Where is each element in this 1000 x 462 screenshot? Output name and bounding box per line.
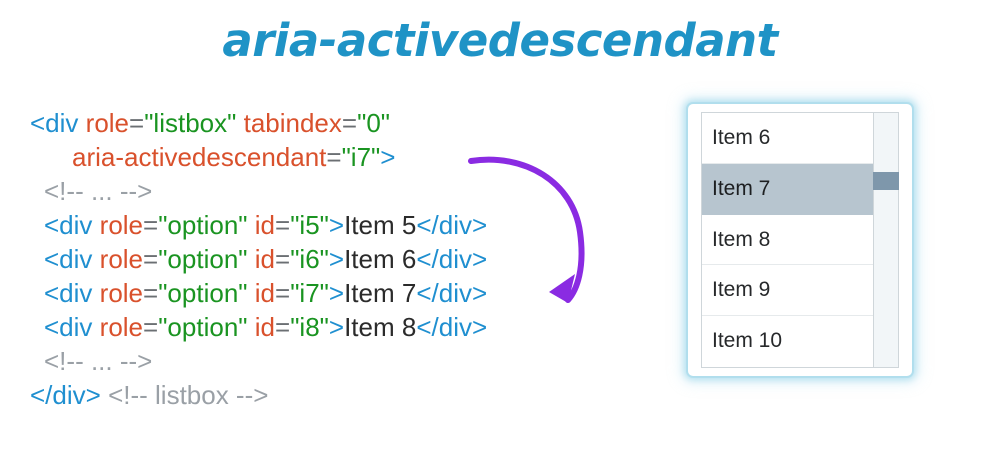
code-token-txt xyxy=(248,312,255,342)
code-token-attr: aria-activedescendant xyxy=(72,142,326,172)
code-token-txt xyxy=(248,210,255,240)
code-token-eq: = xyxy=(275,244,290,274)
code-token-attr: role xyxy=(100,312,143,342)
listbox-option[interactable]: Item 9 xyxy=(702,265,873,316)
code-token-val: "i8" xyxy=(290,312,329,342)
code-line: <div role="option" id="i5">Item 5</div> xyxy=(30,208,487,242)
code-token-tag: </div> xyxy=(416,210,487,240)
code-token-attr: id xyxy=(255,210,275,240)
code-token-eq: = xyxy=(326,142,341,172)
code-token-eq: = xyxy=(129,108,144,138)
code-token-txt: Item 5 xyxy=(344,210,416,240)
code-sample: <div role="listbox" tabindex="0"aria-act… xyxy=(30,106,487,412)
code-token-attr: tabindex xyxy=(244,108,342,138)
page-title: aria-activedescendant xyxy=(0,14,1000,67)
code-token-attr: role xyxy=(100,210,143,240)
code-token-val: "0" xyxy=(357,108,390,138)
listbox-option[interactable]: Item 7 xyxy=(702,164,873,215)
code-token-tag: > xyxy=(329,278,344,308)
listbox-scrollbar[interactable] xyxy=(873,112,899,368)
option-list[interactable]: Item 6Item 7Item 8Item 9Item 10 xyxy=(701,112,873,368)
code-line: </div> <!-- listbox --> xyxy=(30,378,487,412)
code-line: <div role="option" id="i6">Item 6</div> xyxy=(30,242,487,276)
code-token-comment: <!-- listbox --> xyxy=(108,380,268,410)
code-token-tag: > xyxy=(380,142,395,172)
code-token-tag: <div xyxy=(44,210,100,240)
listbox-option[interactable]: Item 8 xyxy=(702,215,873,266)
code-token-eq: = xyxy=(275,312,290,342)
code-token-attr: id xyxy=(255,312,275,342)
code-token-eq: = xyxy=(143,312,158,342)
code-token-tag: </div> xyxy=(416,278,487,308)
code-token-tag: > xyxy=(329,210,344,240)
code-token-eq: = xyxy=(143,278,158,308)
code-token-attr: id xyxy=(255,278,275,308)
code-token-eq: = xyxy=(342,108,357,138)
code-token-val: "option" xyxy=(158,312,247,342)
code-token-txt: Item 7 xyxy=(344,278,416,308)
listbox-option[interactable]: Item 6 xyxy=(702,113,873,164)
code-token-txt xyxy=(248,244,255,274)
code-token-txt: Item 6 xyxy=(344,244,416,274)
listbox-option[interactable]: Item 10 xyxy=(702,316,873,367)
code-token-eq: = xyxy=(275,210,290,240)
code-token-val: "i6" xyxy=(290,244,329,274)
code-token-tag: > xyxy=(329,244,344,274)
code-token-val: "listbox" xyxy=(144,108,236,138)
code-token-tag: </div> xyxy=(416,244,487,274)
code-token-txt xyxy=(101,380,108,410)
code-token-val: "option" xyxy=(158,244,247,274)
code-token-eq: = xyxy=(143,244,158,274)
scrollbar-thumb[interactable] xyxy=(873,172,899,190)
code-token-txt xyxy=(248,278,255,308)
code-token-attr: role xyxy=(86,108,129,138)
code-token-txt xyxy=(236,108,243,138)
code-token-eq: = xyxy=(275,278,290,308)
code-token-txt: Item 8 xyxy=(344,312,416,342)
code-line: <!-- ... --> xyxy=(30,344,487,378)
code-token-val: "option" xyxy=(158,278,247,308)
code-token-tag: > xyxy=(329,312,344,342)
code-token-tag: <div xyxy=(44,244,100,274)
code-token-tag: <div xyxy=(44,312,100,342)
code-token-tag: <div xyxy=(44,278,100,308)
code-token-comment: <!-- ... --> xyxy=(44,176,152,206)
code-token-tag: </div> xyxy=(416,312,487,342)
code-token-attr: role xyxy=(100,244,143,274)
code-line: <div role="listbox" tabindex="0" xyxy=(30,106,487,140)
code-token-attr: role xyxy=(100,278,143,308)
listbox-widget[interactable]: Item 6Item 7Item 8Item 9Item 10 xyxy=(688,104,912,376)
code-token-val: "i7" xyxy=(342,142,381,172)
code-line: <!-- ... --> xyxy=(30,174,487,208)
code-token-attr: id xyxy=(255,244,275,274)
code-line: aria-activedescendant="i7"> xyxy=(30,140,487,174)
code-token-tag: </div> xyxy=(30,380,101,410)
code-line: <div role="option" id="i8">Item 8</div> xyxy=(30,310,487,344)
code-token-comment: <!-- ... --> xyxy=(44,346,152,376)
code-token-tag: <div xyxy=(30,108,86,138)
code-token-val: "option" xyxy=(158,210,247,240)
code-token-val: "i7" xyxy=(290,278,329,308)
code-line: <div role="option" id="i7">Item 7</div> xyxy=(30,276,487,310)
listbox-inner: Item 6Item 7Item 8Item 9Item 10 xyxy=(701,112,899,368)
code-token-eq: = xyxy=(143,210,158,240)
code-token-val: "i5" xyxy=(290,210,329,240)
